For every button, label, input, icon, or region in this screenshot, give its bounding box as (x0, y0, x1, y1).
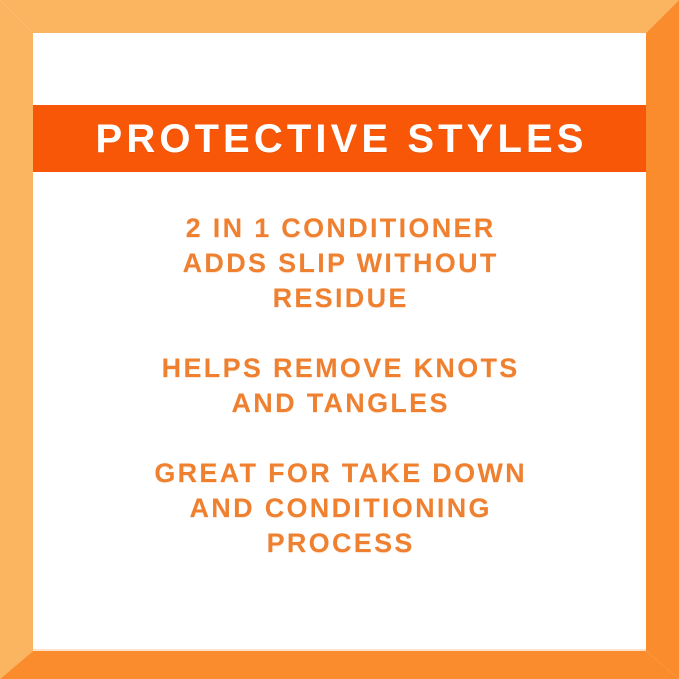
frame-border-right (646, 0, 679, 679)
benefit-item: GREAT FOR TAKE DOWN AND CONDITIONING PRO… (33, 456, 646, 561)
benefit-line: ADDS SLIP WITHOUT (33, 246, 646, 281)
benefit-line: 2 IN 1 CONDITIONER (33, 211, 646, 246)
benefit-line: PROCESS (33, 526, 646, 561)
content-panel: PROTECTIVE STYLES 2 IN 1 CONDITIONER ADD… (33, 33, 646, 651)
benefit-line: AND CONDITIONING (33, 491, 646, 526)
frame-border-left (0, 0, 33, 679)
benefit-item: 2 IN 1 CONDITIONER ADDS SLIP WITHOUT RES… (33, 211, 646, 316)
benefit-line: RESIDUE (33, 281, 646, 316)
infographic-card: PROTECTIVE STYLES 2 IN 1 CONDITIONER ADD… (0, 0, 679, 679)
frame-border-bottom (0, 651, 679, 679)
benefit-item: HELPS REMOVE KNOTS AND TANGLES (33, 351, 646, 421)
title-band: PROTECTIVE STYLES (33, 105, 646, 172)
frame-border-top (0, 0, 679, 33)
benefit-line: AND TANGLES (33, 386, 646, 421)
benefits-list: 2 IN 1 CONDITIONER ADDS SLIP WITHOUT RES… (33, 211, 646, 561)
benefit-line: GREAT FOR TAKE DOWN (33, 456, 646, 491)
panel-bottom-hairline (33, 649, 646, 651)
benefit-line: HELPS REMOVE KNOTS (33, 351, 646, 386)
page-title: PROTECTIVE STYLES (91, 119, 587, 159)
